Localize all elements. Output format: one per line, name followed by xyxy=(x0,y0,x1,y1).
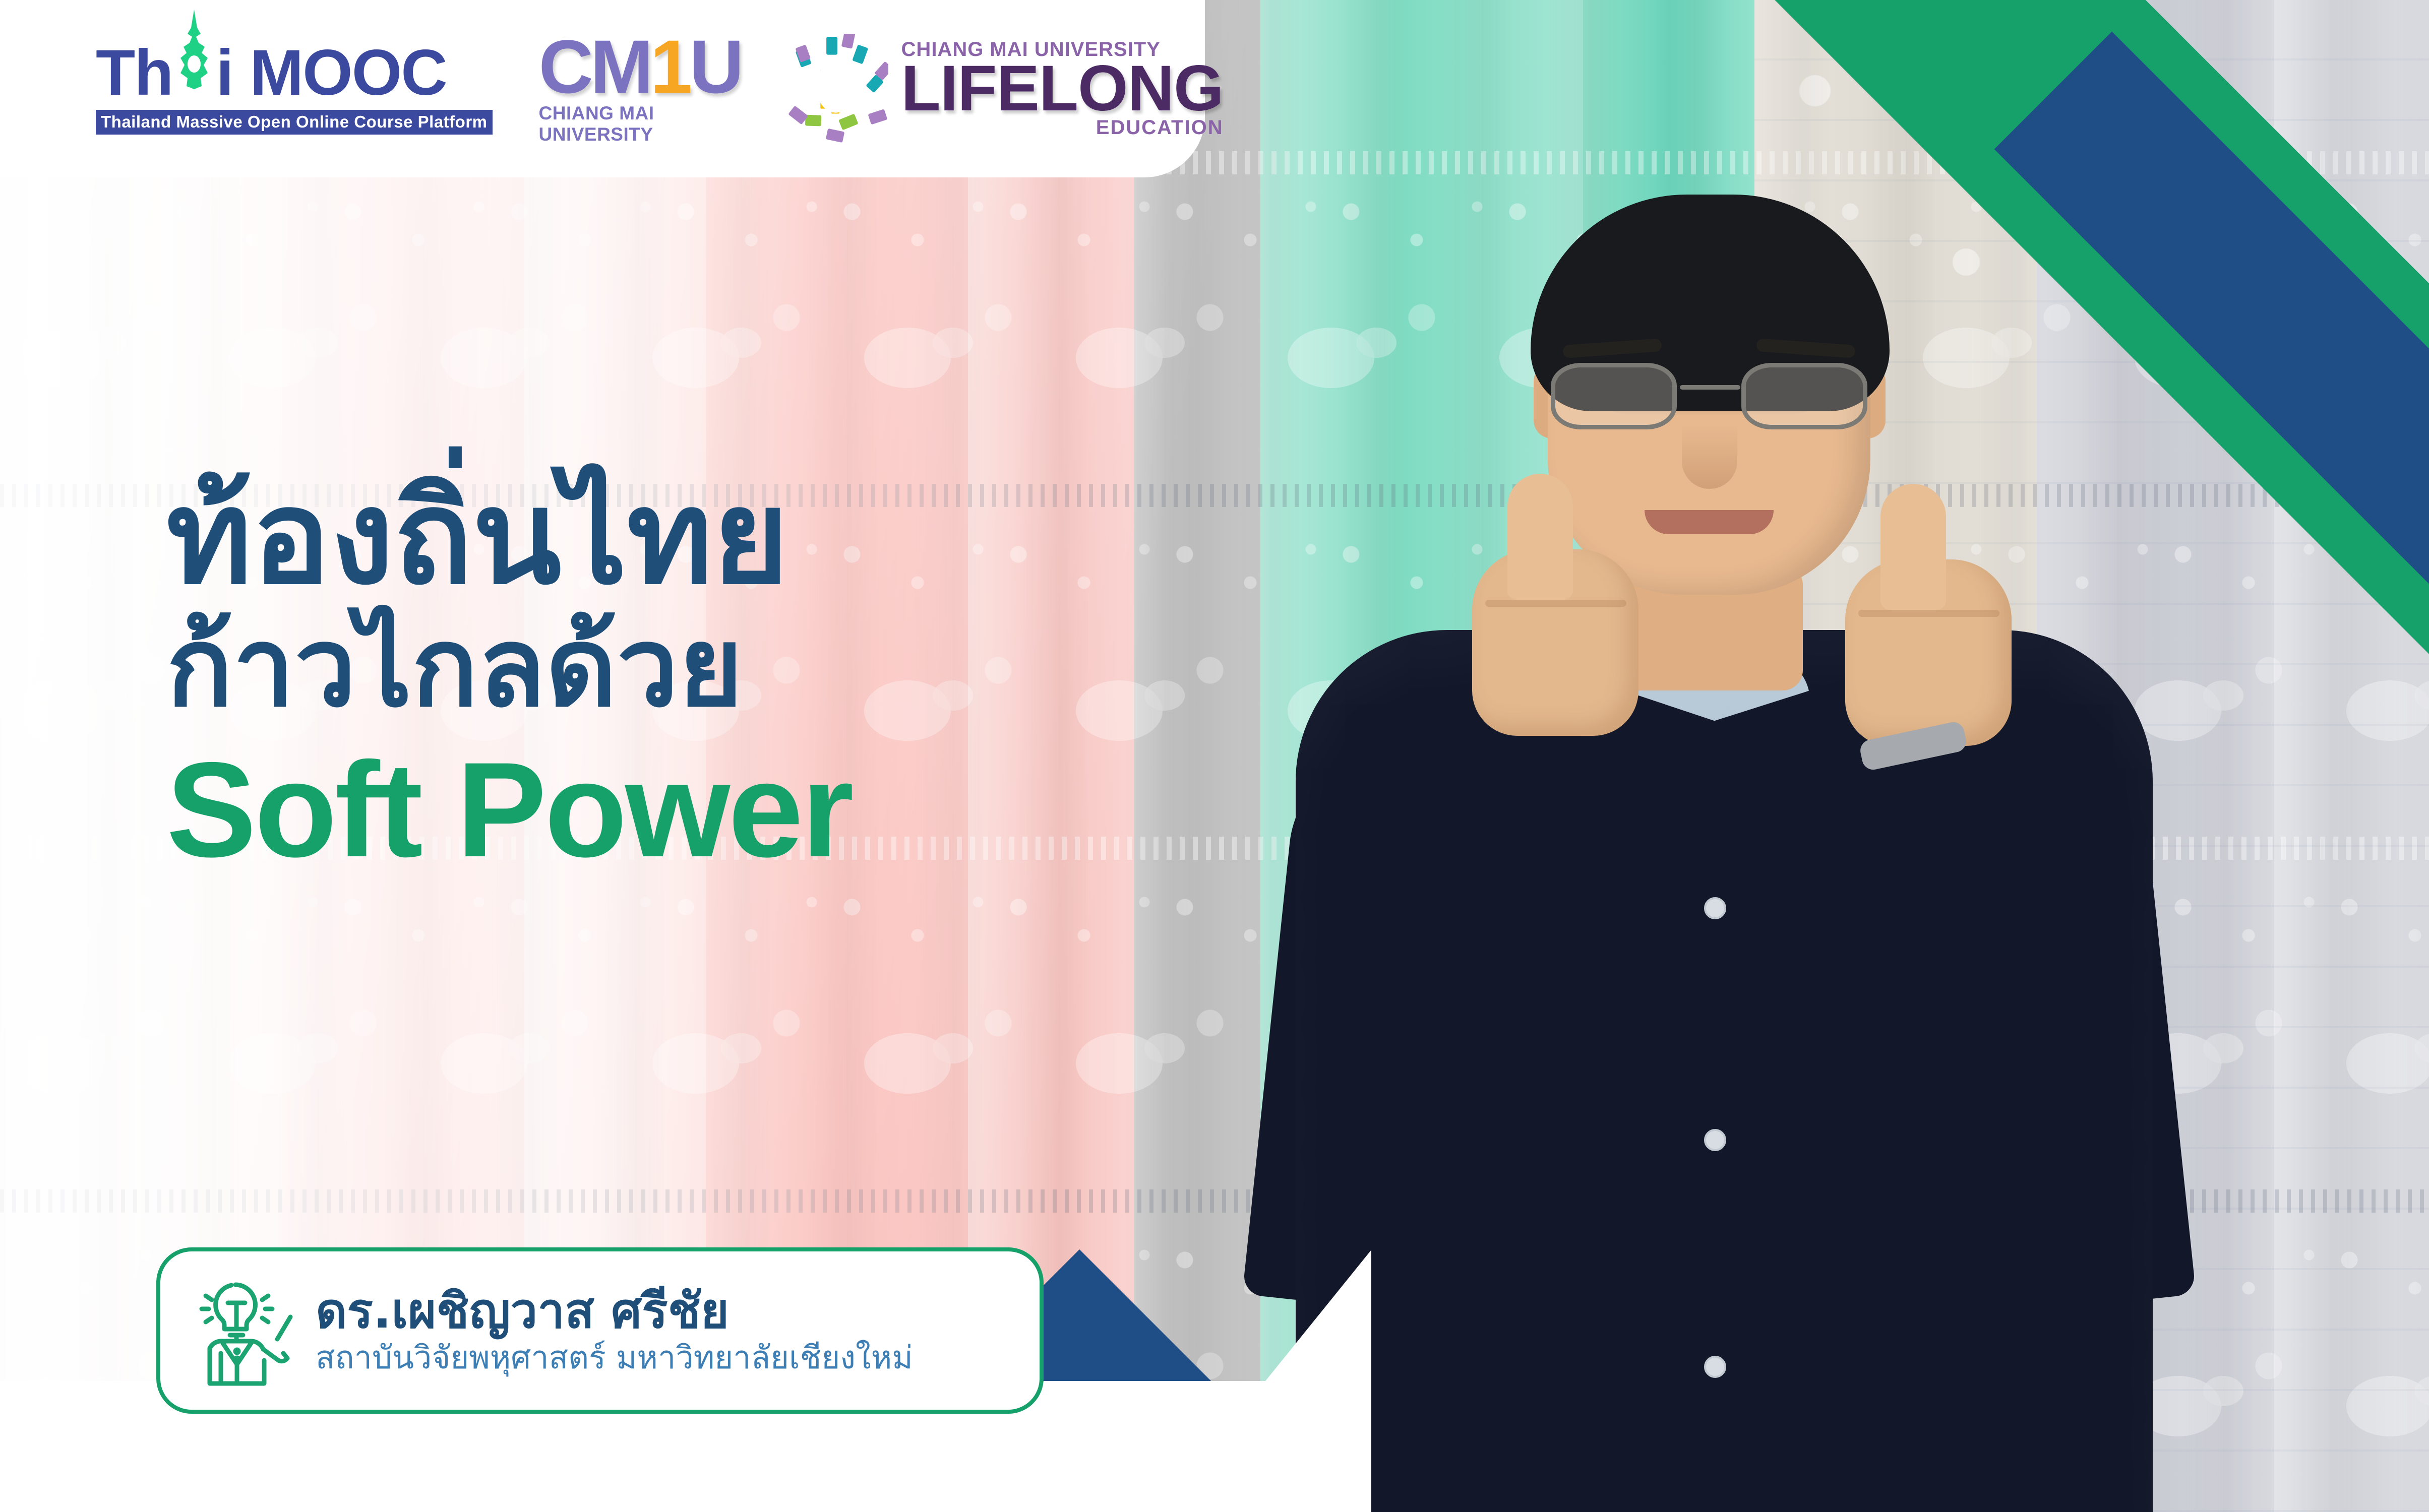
speaker-organization: สถาบันวิจัยพหุศาสตร์ มหาวิทยาลัยเชียงใหม… xyxy=(316,1339,913,1377)
speaker-badge: ดร.เผชิญวาส ศรีชัย สถาบันวิจัยพหุศาสตร์ … xyxy=(156,1247,1044,1414)
thaimooc-word-part1: Th xyxy=(96,43,172,103)
lifelong-logo[interactable]: CHIANG MAI UNIVERSITY LIFELONG EDUCATION xyxy=(778,34,1224,144)
course-banner-poster: Th a i MOOC Thailand Massive Open Online… xyxy=(0,0,2429,1512)
title-line-3: Soft Power xyxy=(166,742,1225,877)
speaker-text: ดร.เผชิญวาส ศรีชัย สถาบันวิจัยพหุศาสตร์ … xyxy=(316,1284,913,1376)
logo-bar: Th a i MOOC Thailand Massive Open Online… xyxy=(0,0,1205,177)
lens-left xyxy=(1551,363,1677,429)
lifelong-line-big: LIFELONG xyxy=(901,61,1224,116)
circular-mosaic-icon xyxy=(778,34,888,144)
cmu-wordmark: CM1U xyxy=(539,33,741,101)
thaimooc-word-part2: i MOOC xyxy=(216,43,446,103)
shirt-button xyxy=(1704,897,1726,919)
thumb xyxy=(1507,474,1573,600)
shirt-button xyxy=(1704,1356,1726,1378)
lifelong-text: CHIANG MAI UNIVERSITY LIFELONG EDUCATION xyxy=(901,38,1224,139)
knuckle-line xyxy=(1485,600,1626,607)
lecturer-lightbulb-icon xyxy=(188,1273,293,1389)
title-line-2: ก้าวไกลด้วย xyxy=(166,606,1225,729)
thumbs-up-left xyxy=(1472,474,1638,736)
knuckle-line xyxy=(1858,610,1999,617)
glasses-bridge xyxy=(1680,385,1740,390)
lifelong-line-bottom: EDUCATION xyxy=(1096,116,1224,139)
cmu-letter-c: C xyxy=(539,24,590,109)
thaimooc-logo[interactable]: Th a i MOOC Thailand Massive Open Online… xyxy=(96,43,493,134)
lens-right xyxy=(1741,363,1867,429)
thaimooc-tagline: Thailand Massive Open Online Course Plat… xyxy=(96,110,493,135)
presenter-photo xyxy=(1235,212,2223,1512)
nose xyxy=(1682,423,1737,489)
mosaic-glyph xyxy=(778,34,888,144)
cmu-letter-one: 1 xyxy=(650,24,689,109)
thaimooc-wordmark: Th a i MOOC xyxy=(96,43,447,103)
cmu-logo[interactable]: CM1U CHIANG MAI UNIVERSITY xyxy=(539,33,741,145)
cmu-letter-m: M xyxy=(590,24,650,109)
poster-title: ท้องถิ่นไทย ก้าวไกลด้วย Soft Power xyxy=(166,469,1225,877)
thumb xyxy=(1880,484,1946,610)
cardigan-lapel-left xyxy=(1517,655,1729,1512)
cmu-subtitle: CHIANG MAI UNIVERSITY xyxy=(539,103,741,145)
cardigan-lapel-right xyxy=(1699,655,1921,1512)
speaker-name: ดร.เผชิญวาส ศรีชัย xyxy=(316,1284,913,1339)
shirt-button xyxy=(1704,1129,1726,1151)
thai-stupa-icon: a xyxy=(172,43,216,103)
mouth-smile xyxy=(1645,510,1774,534)
cmu-letter-u: U xyxy=(689,24,741,109)
stupa-glyph xyxy=(175,10,213,90)
thumbs-up-right xyxy=(1845,484,2012,746)
title-line-1: ท้องถิ่นไทย xyxy=(166,469,1225,606)
